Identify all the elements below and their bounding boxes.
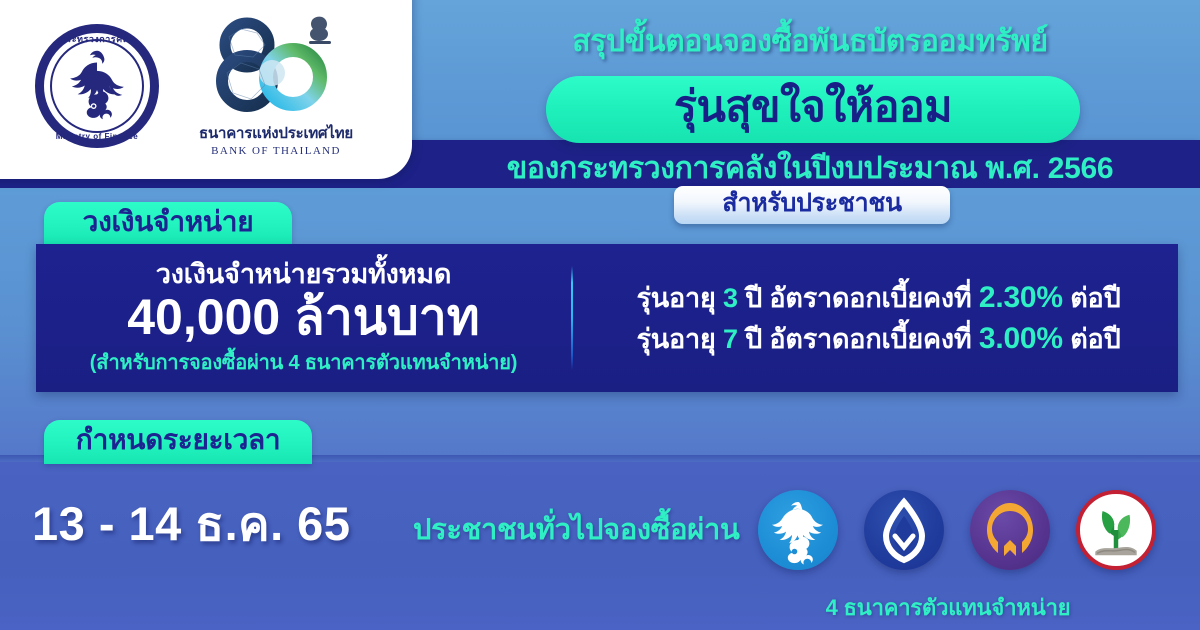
citizen-badge-label: สำหรับประชาชน <box>722 191 902 219</box>
interest-rate-block: รุ่นอายุ 3 ปี อัตราดอกเบี้ยคงที่ 2.30% ต… <box>573 244 1178 392</box>
banks-caption: 4 ธนาคารตัวแทนจำหน่าย <box>758 590 1138 625</box>
bond-series-pill: รุ่นสุขใจให้ออม <box>546 76 1080 143</box>
rate-value-3y: 2.30% <box>979 281 1063 314</box>
interest-rate-row: รุ่นอายุ 3 ปี อัตราดอกเบี้ยคงที่ 2.30% ต… <box>636 281 1120 314</box>
garuda-emblem-icon <box>55 44 139 128</box>
bangkok-bank-garuda-icon <box>758 490 838 570</box>
rate-prefix-3y: รุ่นอายุ <box>636 283 715 313</box>
sale-limit-block: วงเงินจำหน่ายรวมทั้งหมด 40,000 ล้านบาท (… <box>36 244 571 392</box>
bank-of-thailand-name-english: BANK OF THAILAND <box>183 145 369 157</box>
header-fiscal-year-line: ของกระทรวงการคลังในปีงบประมาณ พ.ศ. 2566 <box>420 145 1200 192</box>
rate-value-7y: 3.00% <box>979 322 1063 355</box>
bank-logo-row <box>758 490 1156 570</box>
rate-suffix-3y: ต่อปี <box>1070 283 1120 313</box>
bond-series-name: รุ่นสุขใจให้ออม <box>674 86 952 133</box>
tab-period: กำหนดระยะเวลา <box>44 420 312 464</box>
subscription-description: ประชาชนทั่วไปจองซื้อผ่าน <box>413 516 740 545</box>
sale-limit-caption: วงเงินจำหน่ายรวมทั้งหมด <box>156 260 451 290</box>
savings-bond-infographic: กระทรวงการคลัง Ministry of Finance <box>0 0 1200 630</box>
bank-of-thailand-logo-block: ธนาคารแห่งประเทศไทย BANK OF THAILAND <box>183 15 369 157</box>
tab-period-label: กำหนดระยะเวลา <box>76 426 281 458</box>
rate-term-3y: 3 <box>723 283 738 313</box>
rate-prefix-7y: รุ่นอายุ <box>636 324 715 354</box>
siam-commercial-bank-leaf-icon <box>970 490 1050 570</box>
tab-sale-limit: วงเงินจำหน่าย <box>44 202 292 246</box>
header-subtitle-line: สรุปขั้นตอนจองซื้อพันธบัตรออมทรัพย์ <box>420 18 1200 65</box>
info-panel: วงเงินจำหน่ายรวมทั้งหมด 40,000 ล้านบาท (… <box>36 244 1178 392</box>
rate-term-unit-3y: ปี <box>745 283 762 313</box>
sale-limit-note: (สำหรับการจองซื้อผ่าน 4 ธนาคารตัวแทนจำหน… <box>90 346 517 378</box>
ministry-of-finance-seal-icon: กระทรวงการคลัง Ministry of Finance <box>35 24 159 148</box>
baac-sprout-icon <box>1076 490 1156 570</box>
rate-middle-3y: อัตราดอกเบี้ยคงที่ <box>769 283 971 313</box>
interest-rate-row: รุ่นอายุ 7 ปี อัตราดอกเบี้ยคงที่ 3.00% ต… <box>636 322 1120 355</box>
rate-term-7y: 7 <box>723 324 738 354</box>
rate-term-unit-7y: ปี <box>745 324 762 354</box>
bank-of-thailand-name-thai: ธนาคารแห่งประเทศไทย <box>183 121 369 145</box>
rate-middle-7y: อัตราดอกเบี้ยคงที่ <box>769 324 971 354</box>
seal-text-english: Ministry of Finance <box>35 132 159 141</box>
logo-panel: กระทรวงการคลัง Ministry of Finance <box>0 0 412 179</box>
krungthai-bank-waterdrop-icon <box>864 490 944 570</box>
citizen-badge: สำหรับประชาชน <box>674 186 950 224</box>
tab-sale-limit-label: วงเงินจำหน่าย <box>83 208 254 240</box>
sale-limit-amount: 40,000 ล้านบาท <box>127 289 480 347</box>
subscription-date-range: 13 - 14 ธ.ค. 65 <box>32 500 350 547</box>
rate-suffix-7y: ต่อปี <box>1070 324 1120 354</box>
bank-of-thailand-80th-anniversary-icon <box>201 15 351 119</box>
